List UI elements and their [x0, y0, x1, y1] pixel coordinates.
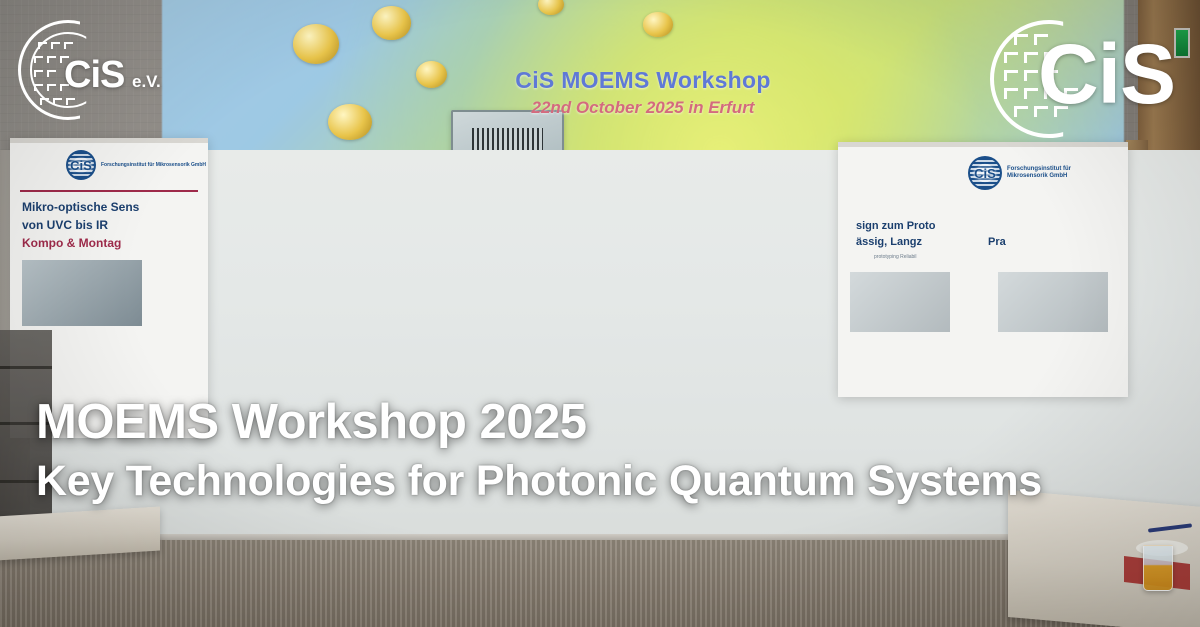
attendee-head: [558, 230, 587, 266]
attendee-hair: [672, 241, 708, 263]
slide-title: CiS MOEMS Workshop: [206, 67, 1080, 94]
attendee: [920, 220, 1004, 570]
attendee-hair: [945, 217, 979, 238]
attendee-head: [269, 236, 297, 271]
attendee-collar: [665, 284, 715, 296]
attendee: [685, 218, 769, 570]
name-badge: [928, 328, 944, 338]
attendee-hair: [1004, 239, 1041, 285]
name-badge: [493, 319, 509, 329]
attendee-hair: [464, 227, 500, 249]
attendee-collar: [492, 256, 540, 268]
attendee-head: [49, 256, 76, 290]
name-badge: [392, 327, 408, 337]
attendee-glasses-icon: [1123, 255, 1147, 260]
attendee-collar: [938, 258, 985, 270]
attendee-torso: [90, 256, 176, 418]
name-badge: [867, 316, 883, 326]
name-badge: [1080, 315, 1096, 325]
attendee-hair: [313, 219, 347, 240]
slide-caption: CiS MOEMS Workshop 22nd October 2025 in …: [206, 67, 1080, 118]
attendee-head: [317, 226, 344, 260]
cis-mark-icon: CiS: [66, 150, 96, 180]
attendee-hair: [115, 215, 151, 237]
attendee-hair: [218, 215, 253, 237]
name-badge: [583, 316, 599, 326]
rollup-left-logo-tagline: Forschungsinstitut für Mikrosensorik Gmb…: [101, 162, 206, 168]
attendee-head: [555, 218, 582, 252]
attendee-collar: [456, 270, 508, 282]
attendee-head: [503, 222, 530, 256]
attendee-torso: [386, 256, 470, 417]
attendee-collar: [154, 268, 201, 280]
name-badge: [665, 322, 681, 332]
attendee-head: [221, 222, 249, 257]
rollup-left-logo: CiS Forschungsinstitut für Mikrosensorik…: [66, 150, 206, 180]
attendee-glasses-icon: [951, 238, 973, 243]
attendee: [192, 218, 278, 570]
attendee-head: [119, 222, 148, 258]
attendee-head: [165, 234, 192, 268]
page-title: MOEMS Workshop 2025: [36, 398, 1176, 447]
attendee-hair: [899, 237, 935, 259]
attendee-collar: [703, 256, 750, 268]
attendee-head: [714, 222, 741, 256]
attendee: [473, 218, 559, 570]
attendee-glasses-icon: [560, 245, 584, 250]
attendee-collar: [356, 279, 406, 291]
attendee-head: [676, 248, 705, 284]
attendee-head: [367, 244, 395, 279]
attendee-collar: [631, 273, 679, 285]
attendee-collar: [306, 260, 353, 272]
attendee-torso: [192, 255, 278, 417]
attendee-hair: [411, 217, 445, 238]
attendee-collar: [892, 280, 942, 292]
name-badge: [340, 310, 356, 320]
attendee-hair: [161, 227, 195, 248]
name-badge: [701, 331, 717, 341]
attendee: [526, 214, 610, 570]
attendee-hair: [779, 233, 815, 255]
attendee-torso: [685, 254, 769, 416]
attendee-collar: [109, 258, 157, 270]
attendee-head: [1056, 230, 1084, 265]
attendee-hair: [1053, 223, 1088, 245]
attendee-head: [415, 224, 442, 258]
overlay-title-block: MOEMS Workshop 2025 Key Technologies for…: [36, 398, 1176, 503]
attendee-head: [1121, 240, 1150, 276]
name-badge: [188, 317, 204, 327]
attendee-torso: [473, 254, 559, 416]
attendee-collar: [211, 257, 259, 269]
name-badge: [294, 320, 310, 330]
attendee-glasses-icon: [505, 236, 527, 241]
attendee-hair: [840, 225, 875, 247]
attendee-collar: [544, 252, 591, 264]
attendee-head: [641, 238, 669, 273]
attendee-glasses-icon: [319, 240, 341, 245]
exit-sign-icon: [1174, 28, 1190, 58]
attendee-collar: [996, 283, 1048, 295]
attendee-collar: [40, 290, 84, 302]
attendee-hair: [1117, 233, 1153, 255]
attendee-glasses-icon: [644, 253, 667, 258]
attendee-torso: [288, 258, 372, 418]
attendee-collar: [771, 276, 823, 288]
attendee-hair: [266, 229, 301, 251]
attendee-glasses-icon: [370, 259, 393, 264]
name-badge: [1146, 324, 1162, 334]
name-badge: [71, 336, 87, 346]
attendee-hair: [499, 215, 533, 236]
attendee-collar: [1110, 276, 1160, 288]
attendee-glasses-icon: [678, 263, 702, 268]
attendee-collar: [258, 271, 307, 283]
name-badge: [808, 324, 824, 334]
attendee-torso: [920, 256, 1004, 417]
attendee-hair: [45, 249, 79, 292]
attendee-head: [468, 234, 497, 270]
name-badge: [737, 307, 753, 317]
attendee-torso: [526, 250, 610, 414]
attendee-head: [949, 224, 976, 258]
slide-subtitle: 22nd October 2025 in Erfurt: [206, 98, 1080, 118]
attendee-hair: [638, 231, 673, 253]
attendee-collar: [833, 267, 881, 279]
attendee-hair: [710, 215, 744, 236]
attendee-collar: [404, 258, 451, 270]
photo-scene: CiS MOEMS Workshop 22nd October 2025 in …: [0, 0, 1200, 627]
attendee-head: [1007, 246, 1037, 283]
attendee-collar: [547, 266, 596, 278]
attendee-head: [903, 244, 932, 280]
attendee-hair: [554, 223, 590, 245]
event-banner-image: CiS MOEMS Workshop 22nd October 2025 in …: [0, 0, 1200, 627]
attendee-hair: [551, 211, 585, 232]
attendee-collar: [1046, 265, 1094, 277]
attendee-head: [843, 232, 871, 267]
attendee-hair: [364, 237, 399, 281]
juice-glass: [1143, 545, 1173, 591]
rollup-right-logo-tagline-1: Forschungsinstitut für: [1007, 166, 1071, 174]
page-subtitle: Key Technologies for Photonic Quantum Sy…: [36, 460, 1176, 503]
attendee-head: [783, 240, 812, 276]
name-badge: [972, 309, 988, 319]
